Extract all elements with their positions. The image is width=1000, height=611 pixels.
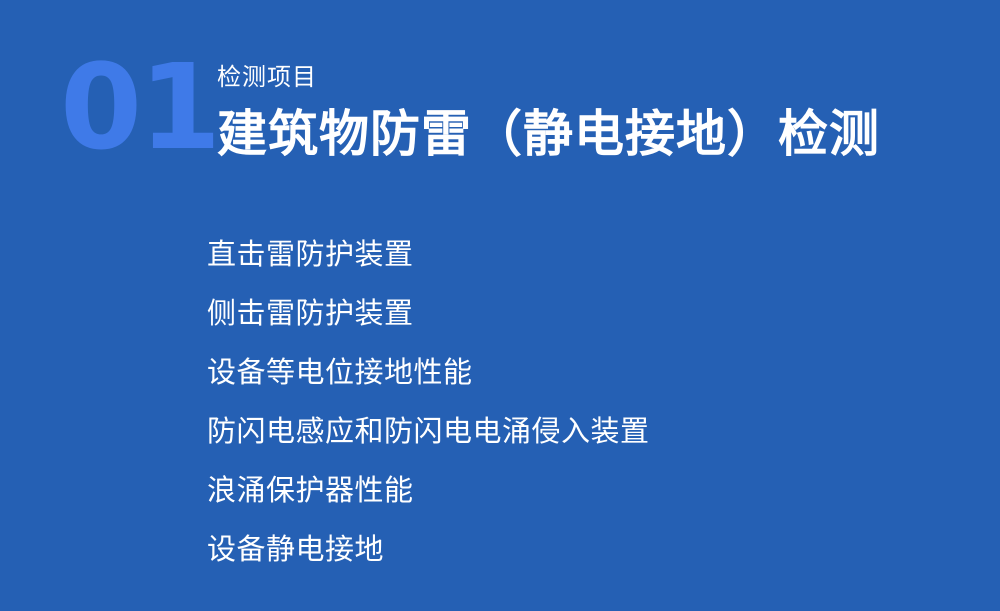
section-eyebrow-label: 检测项目: [217, 62, 880, 94]
list-item: 侧击雷防护装置: [207, 295, 650, 333]
section-number: 01: [60, 48, 218, 166]
page-title: 建筑物防雷（静电接地）检测: [217, 105, 880, 163]
list-item: 直击雷防护装置: [207, 236, 650, 274]
list-item: 防闪电感应和防闪电电涌侵入装置: [207, 413, 650, 451]
list-item: 浪涌保护器性能: [207, 472, 650, 510]
list-item: 设备静电接地: [207, 531, 650, 569]
detection-item-list: 直击雷防护装置 侧击雷防护装置 设备等电位接地性能 防闪电感应和防闪电电涌侵入装…: [207, 236, 650, 569]
header-block: 检测项目 建筑物防雷（静电接地）检测: [217, 62, 880, 163]
slide-root: 01 检测项目 建筑物防雷（静电接地）检测 直击雷防护装置 侧击雷防护装置 设备…: [0, 0, 1000, 611]
list-item: 设备等电位接地性能: [207, 354, 650, 392]
